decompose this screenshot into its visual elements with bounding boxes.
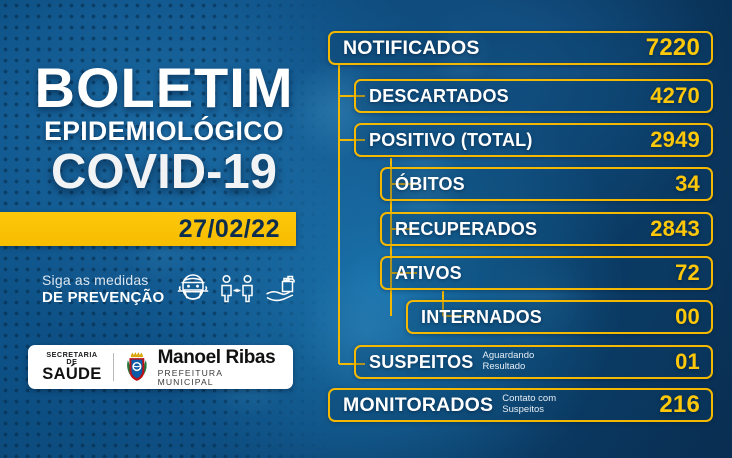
- stat-label: MONITORADOS: [343, 394, 493, 417]
- stat-sublabel: Contato comSuspeitos: [502, 394, 556, 415]
- stat-value: 7220: [646, 34, 700, 62]
- stat-label: RECUPERADOS: [395, 219, 537, 240]
- stat-value: 2843: [650, 216, 700, 242]
- title-block: BOLETIM EPIDEMIOLÓGICO COVID-19: [22, 62, 306, 197]
- health-department-logo: SECRETARIA DE SAÚDE: [40, 351, 104, 383]
- title-boletim: BOLETIM: [22, 62, 306, 115]
- logo-bar: SECRETARIA DE SAÚDE: [28, 345, 293, 389]
- prevention-line1: Siga as medidas: [42, 272, 164, 289]
- stat-label: SUSPEITOS: [369, 352, 474, 373]
- stat-label: NOTIFICADOS: [343, 37, 480, 60]
- health-dept-bottom-text: SAÚDE: [40, 366, 104, 383]
- stat-value: 00: [675, 304, 700, 330]
- date-bar: 27/02/22: [0, 212, 296, 246]
- stat-row: POSITIVO (TOTAL)2949: [354, 123, 713, 157]
- stat-value: 72: [675, 260, 700, 286]
- stats-tree: NOTIFICADOS7220DESCARTADOS4270POSITIVO (…: [325, 0, 732, 458]
- stat-row: ÓBITOS34: [380, 167, 713, 201]
- stat-label: ATIVOS: [395, 263, 462, 284]
- face-mask-icon: [176, 274, 210, 304]
- city-name: Manoel Ribas: [158, 348, 281, 367]
- prevention-block: Siga as medidas DE PREVENÇÃO: [42, 272, 300, 306]
- stat-row: INTERNADOS00: [406, 300, 713, 334]
- stat-value: 2949: [650, 127, 700, 153]
- social-distancing-icon: [219, 274, 255, 304]
- logo-divider: [113, 353, 114, 381]
- bulletin-date: 27/02/22: [179, 215, 280, 244]
- prevention-icons: [176, 274, 300, 304]
- health-dept-top-text: SECRETARIA DE: [40, 351, 104, 365]
- city-logo-text: Manoel Ribas PREFEITURA MUNICIPAL: [158, 348, 281, 386]
- stat-label: POSITIVO (TOTAL): [369, 130, 533, 151]
- municipal-coat-of-arms-icon: [123, 351, 151, 383]
- hand-sanitizer-icon: [264, 274, 300, 304]
- prevention-text: Siga as medidas DE PREVENÇÃO: [42, 272, 164, 306]
- title-epidemiologico: EPIDEMIOLÓGICO: [22, 117, 306, 146]
- stat-value: 01: [675, 349, 700, 375]
- city-logo: Manoel Ribas PREFEITURA MUNICIPAL: [123, 348, 281, 386]
- stat-row: MONITORADOSContato comSuspeitos216: [328, 388, 713, 422]
- left-panel: BOLETIM EPIDEMIOLÓGICO COVID-19 27/02/22…: [0, 0, 320, 458]
- title-covid19: COVID-19: [22, 148, 306, 197]
- stat-row: SUSPEITOSAguardandoResultado01: [354, 345, 713, 379]
- bulletin-canvas: BOLETIM EPIDEMIOLÓGICO COVID-19 27/02/22…: [0, 0, 732, 458]
- stat-sublabel: AguardandoResultado: [483, 351, 535, 372]
- prevention-line2: DE PREVENÇÃO: [42, 289, 164, 307]
- stat-label: DESCARTADOS: [369, 86, 509, 107]
- stat-value: 34: [675, 171, 700, 197]
- stat-label: INTERNADOS: [421, 307, 542, 328]
- stat-value: 4270: [650, 83, 700, 109]
- stat-row: NOTIFICADOS7220: [328, 31, 713, 65]
- stat-row: DESCARTADOS4270: [354, 79, 713, 113]
- stat-label: ÓBITOS: [395, 174, 465, 195]
- stat-row: ATIVOS72: [380, 256, 713, 290]
- stat-value: 216: [659, 391, 700, 419]
- stat-row: RECUPERADOS2843: [380, 212, 713, 246]
- city-subtitle: PREFEITURA MUNICIPAL: [158, 369, 281, 386]
